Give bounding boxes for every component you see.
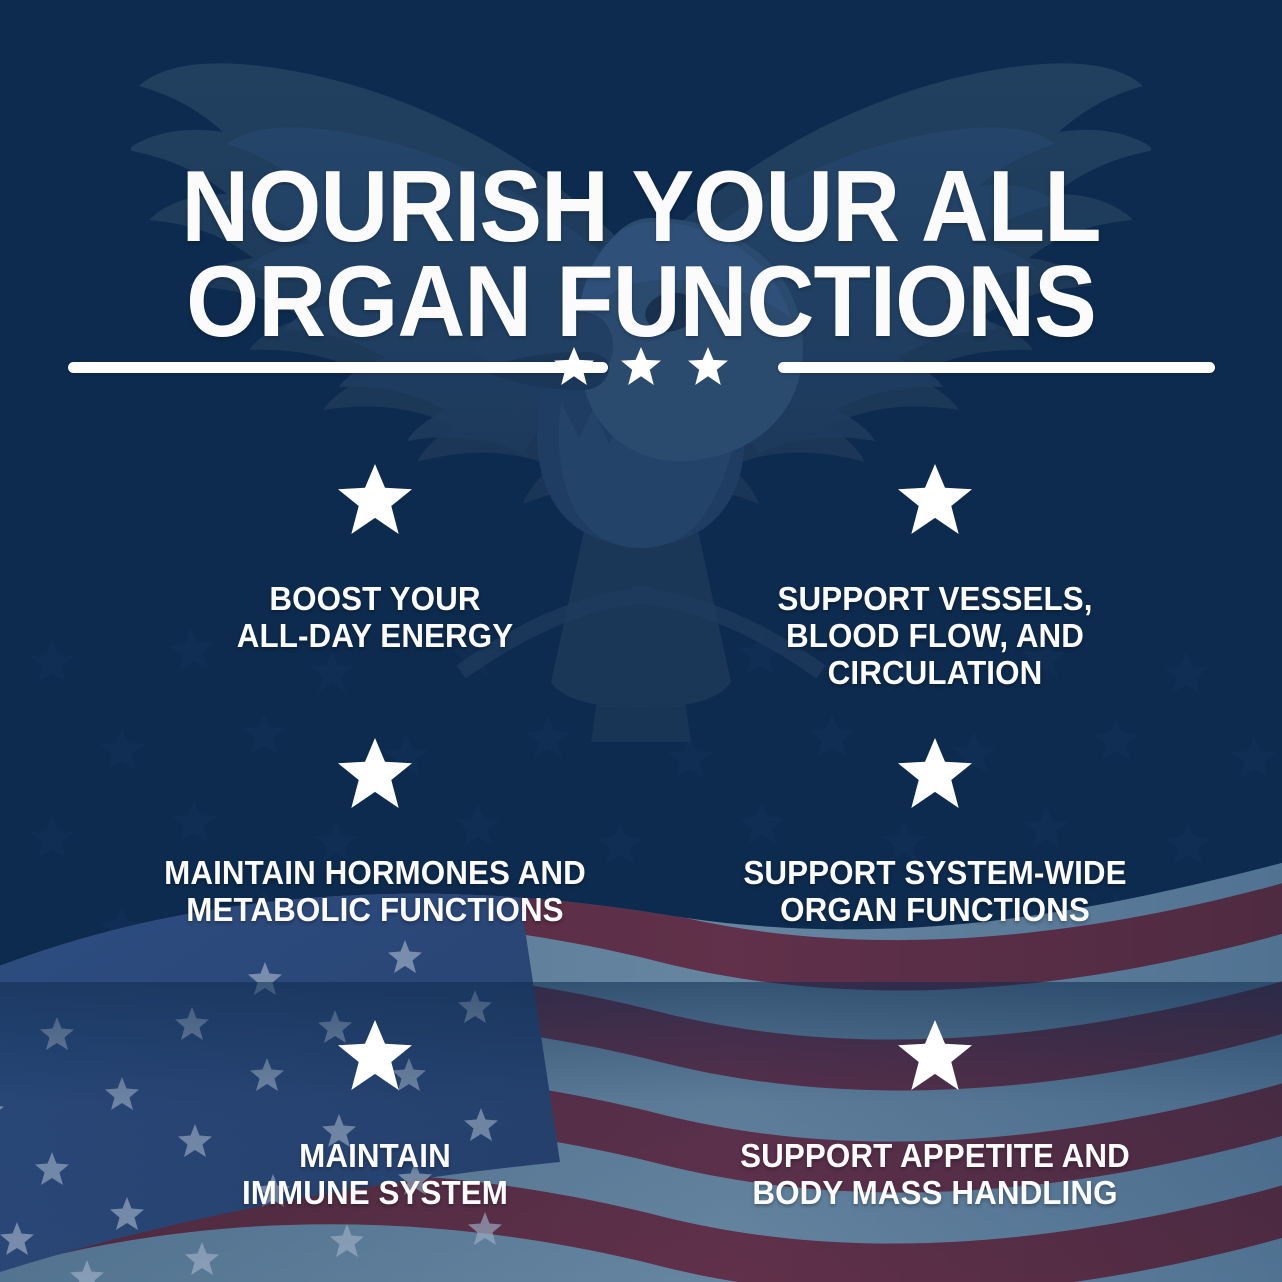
feature-item-system-wide-organ: SUPPORT SYSTEM-WIDE ORGAN FUNCTIONS <box>705 720 1165 929</box>
feature-list: BOOST YOUR ALL-DAY ENERGY SUPPORT VESSEL… <box>0 440 1282 1280</box>
feature-label: SUPPORT SYSTEM-WIDE ORGAN FUNCTIONS <box>717 855 1154 929</box>
star-icon <box>554 347 594 385</box>
feature-item-support-vessels: SUPPORT VESSELS, BLOOD FLOW, AND CIRCULA… <box>705 440 1165 692</box>
feature-item-maintain-hormones: MAINTAIN HORMONES AND METABOLIC FUNCTION… <box>145 720 605 929</box>
feature-row: MAINTAIN IMMUNE SYSTEM SUPPORT APPETITE … <box>0 1000 1282 1280</box>
feature-item-boost-energy: BOOST YOUR ALL-DAY ENERGY <box>145 440 605 655</box>
page-title: NOURISH YOUR ALL ORGAN FUNCTIONS <box>45 160 1237 350</box>
divider <box>0 349 1282 383</box>
content-layer: NOURISH YOUR ALL ORGAN FUNCTIONS BOOST Y… <box>0 0 1282 1282</box>
star-icon <box>688 347 728 385</box>
feature-label: MAINTAIN HORMONES AND METABOLIC FUNCTION… <box>157 855 594 929</box>
page-title-line-2: ORGAN FUNCTIONS <box>45 255 1237 350</box>
feature-item-appetite-body-mass: SUPPORT APPETITE AND BODY MASS HANDLING <box>705 1000 1165 1212</box>
star-icon <box>898 1020 972 1090</box>
star-icon <box>338 464 412 534</box>
divider-stars <box>0 349 1282 383</box>
star-icon <box>338 1020 412 1090</box>
feature-row: BOOST YOUR ALL-DAY ENERGY SUPPORT VESSEL… <box>0 440 1282 720</box>
star-icon <box>338 738 412 808</box>
star-icon <box>621 347 661 385</box>
star-icon <box>898 464 972 534</box>
feature-label: BOOST YOUR ALL-DAY ENERGY <box>157 581 594 655</box>
feature-label: SUPPORT APPETITE AND BODY MASS HANDLING <box>717 1138 1154 1212</box>
star-icon <box>898 738 972 808</box>
feature-item-immune-system: MAINTAIN IMMUNE SYSTEM <box>145 1000 605 1212</box>
feature-label: SUPPORT VESSELS, BLOOD FLOW, AND CIRCULA… <box>717 581 1154 692</box>
feature-label: MAINTAIN IMMUNE SYSTEM <box>157 1138 594 1212</box>
poster-canvas: NOURISH YOUR ALL ORGAN FUNCTIONS BOOST Y… <box>0 0 1282 1282</box>
feature-row: MAINTAIN HORMONES AND METABOLIC FUNCTION… <box>0 720 1282 1000</box>
